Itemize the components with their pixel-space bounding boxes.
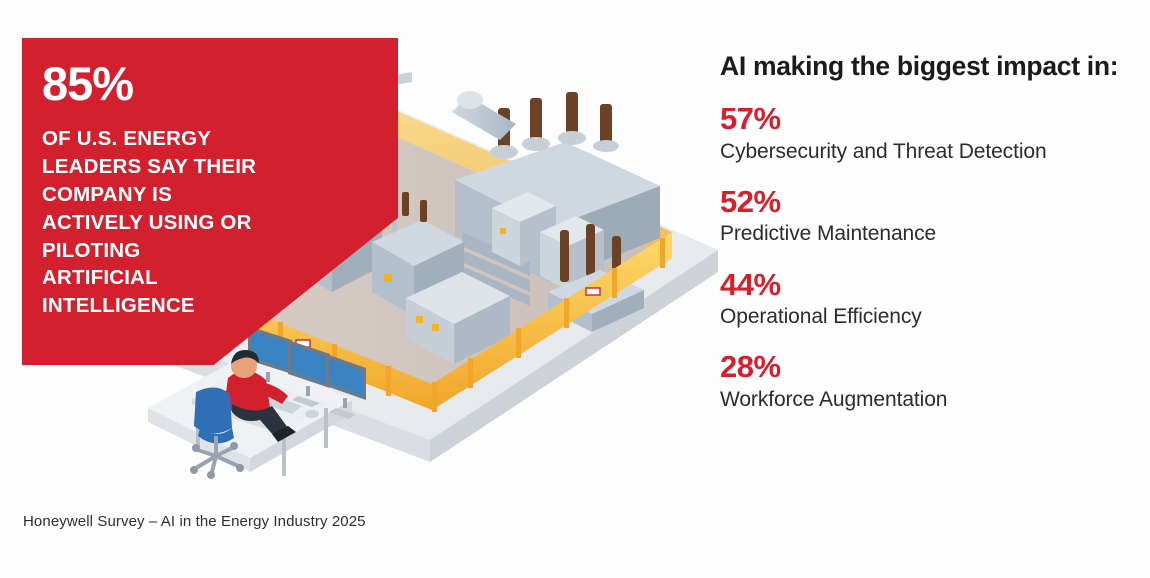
source-attribution: Honeywell Survey – AI in the Energy Indu… [23, 513, 366, 530]
stat-label: Cybersecurity and Threat Detection [720, 139, 1140, 165]
stat-percent: 44% [720, 268, 1140, 301]
banner-headline-stat: 85% [42, 60, 398, 107]
stat-label: Workforce Augmentation [720, 387, 1140, 413]
banner-body-text: OF U.S. ENERGY LEADERS SAY THEIR COMPANY… [42, 125, 257, 320]
stats-heading: AI making the biggest impact in: [720, 50, 1140, 82]
mouse [305, 410, 319, 418]
stat-percent: 57% [720, 102, 1140, 135]
infographic-canvas: 85% OF U.S. ENERGY LEADERS SAY THEIR COM… [0, 0, 1150, 578]
stat-item: 44% Operational Efficiency [720, 268, 1140, 331]
stat-label: Operational Efficiency [720, 304, 1140, 330]
stat-percent: 28% [720, 350, 1140, 383]
stat-label: Predictive Maintenance [720, 221, 1140, 247]
stat-item: 28% Workforce Augmentation [720, 350, 1140, 413]
impact-stats-panel: AI making the biggest impact in: 57% Cyb… [720, 50, 1140, 413]
ceramic-insulators [498, 92, 612, 150]
stat-item: 52% Predictive Maintenance [720, 185, 1140, 248]
stat-item: 57% Cybersecurity and Threat Detection [720, 102, 1140, 165]
stat-percent: 52% [720, 185, 1140, 218]
